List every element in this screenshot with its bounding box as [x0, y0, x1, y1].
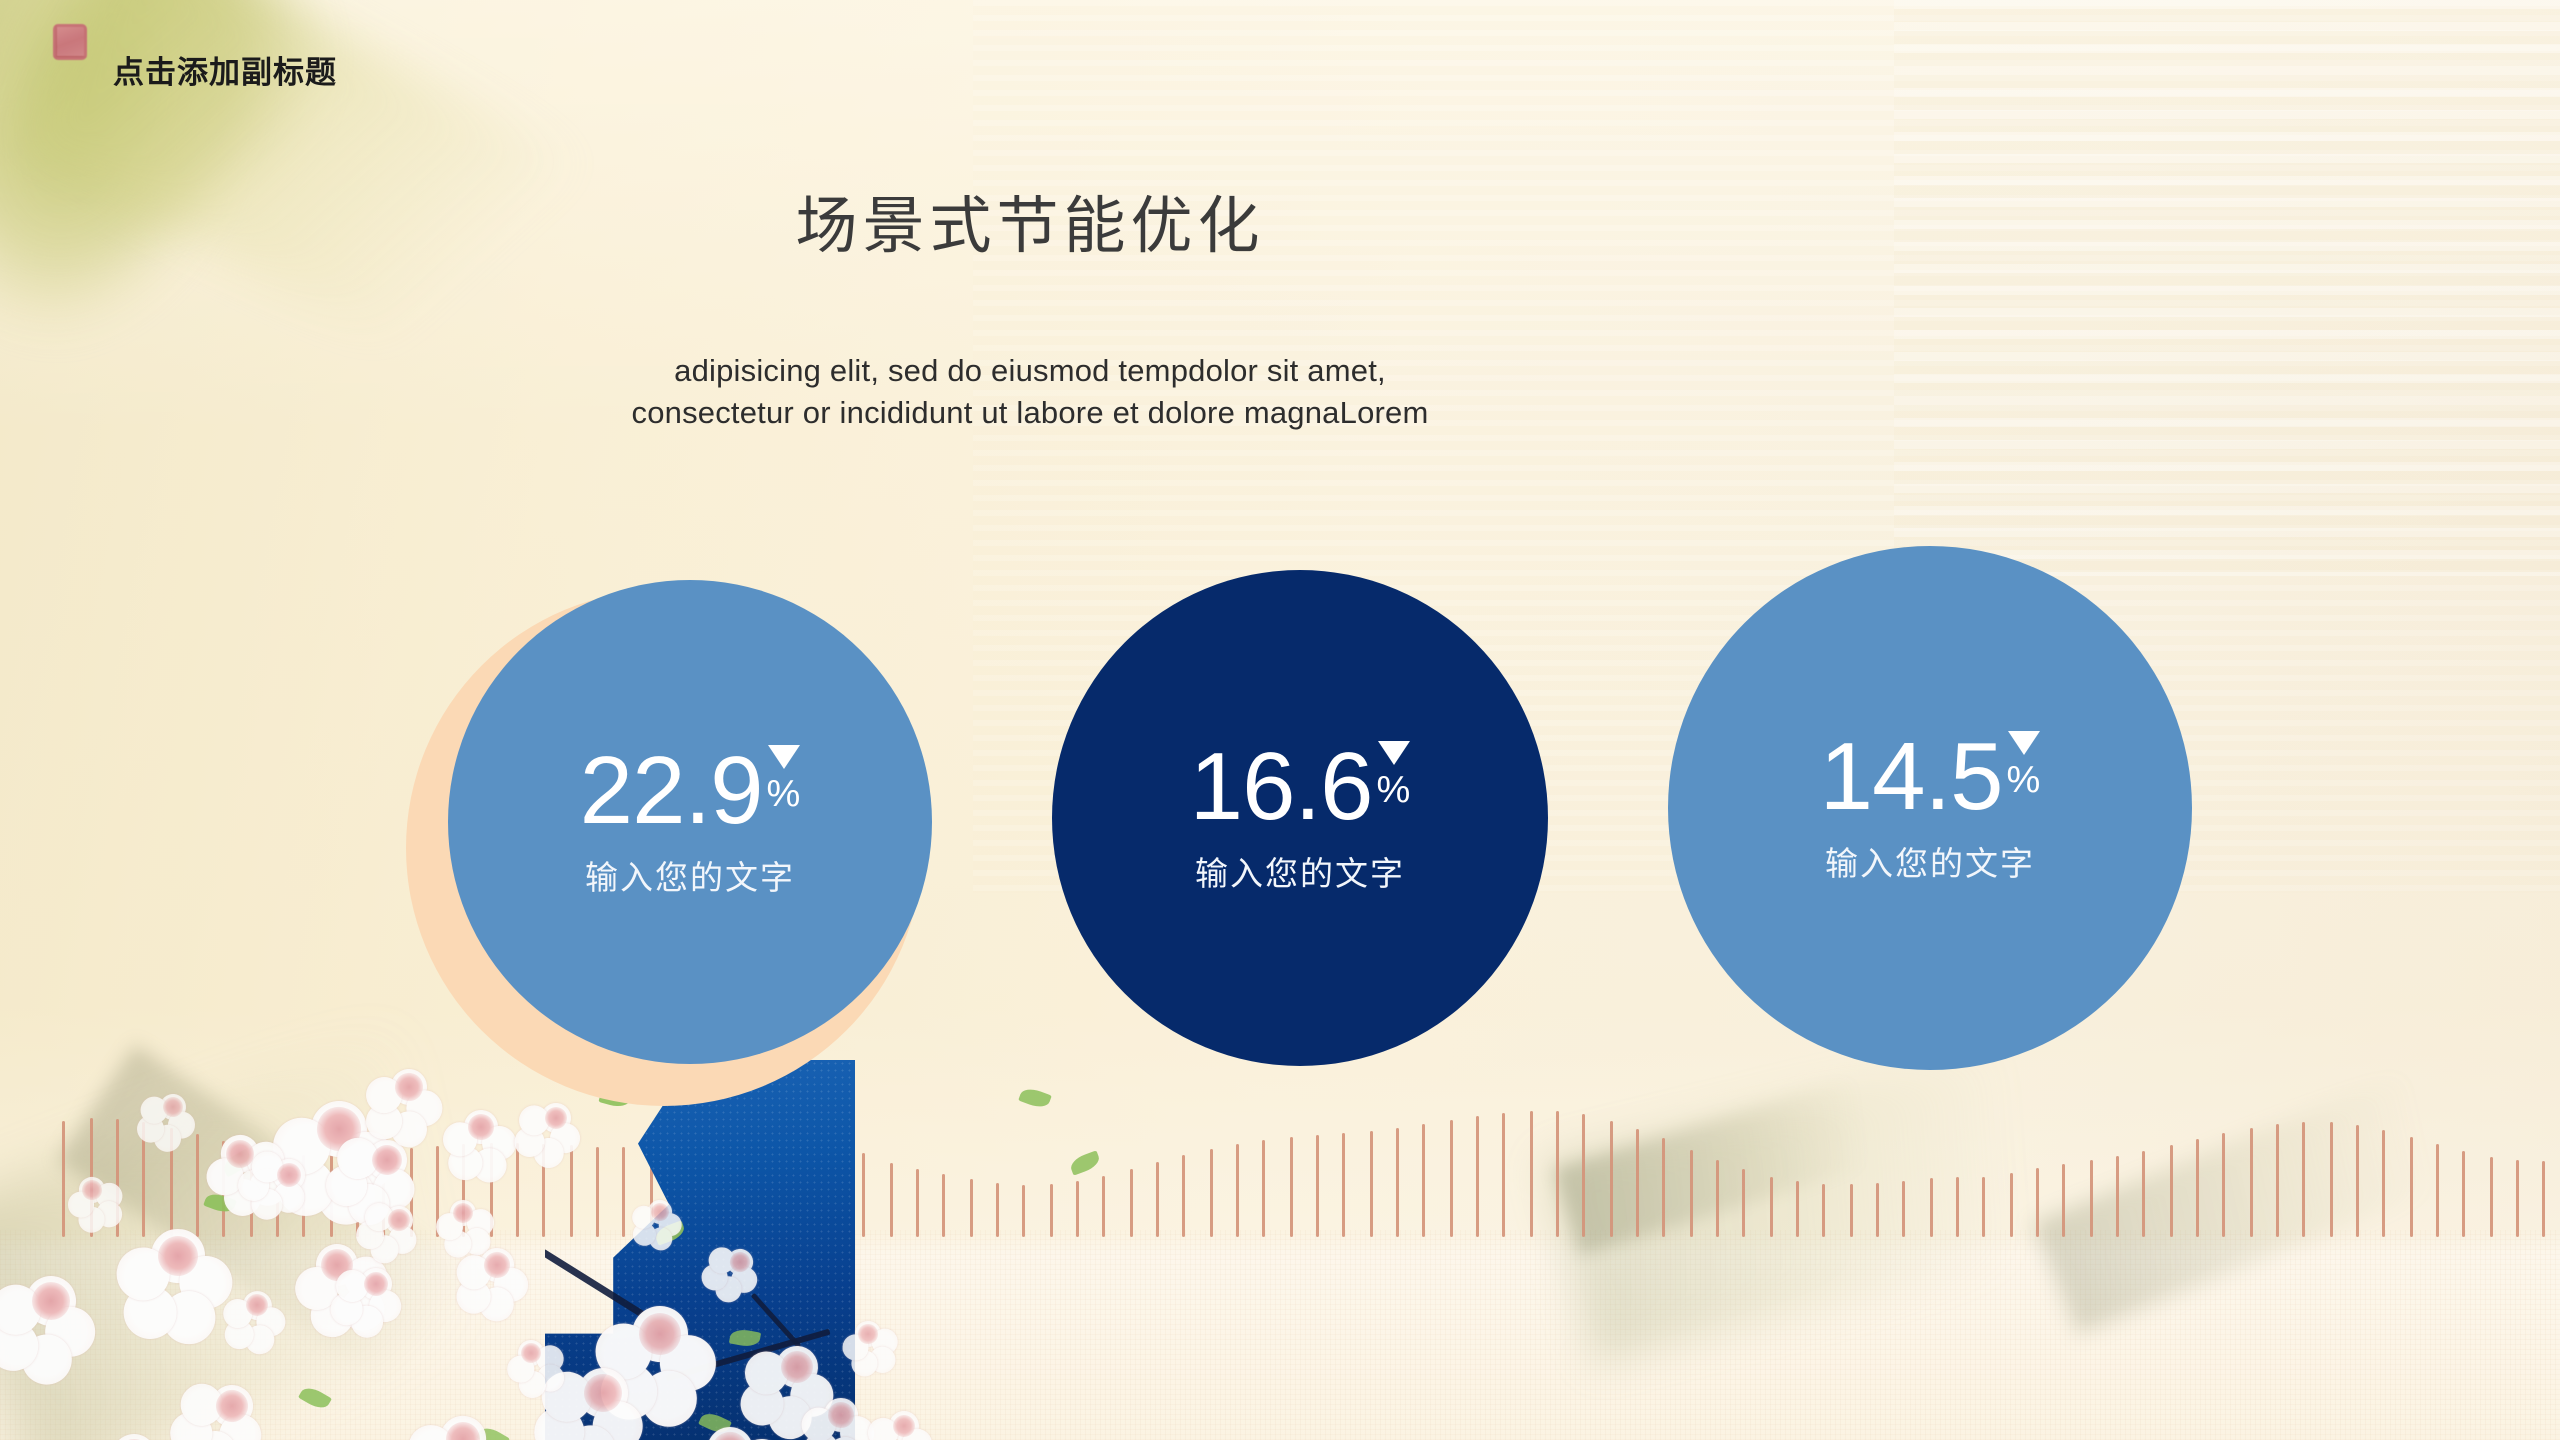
fence-tick [1050, 1184, 1053, 1237]
fence-tick [2036, 1168, 2039, 1237]
fence-tick [516, 1143, 519, 1237]
kpi-value-suffix: % [767, 745, 801, 813]
fence-tick [1956, 1177, 1959, 1237]
kpi-circle[interactable]: 22.9%输入您的文字 [448, 580, 932, 1064]
fence-tick [942, 1174, 945, 1237]
fence-tick [2116, 1156, 2119, 1237]
fence-tick [1610, 1121, 1613, 1237]
fence-tick [2382, 1130, 2385, 1237]
fence-tick [890, 1163, 893, 1237]
triangle-down-icon [1378, 741, 1410, 765]
kpi-percent-sign: % [2007, 761, 2041, 799]
fence-tick [970, 1179, 973, 1237]
fence-tick [1236, 1144, 1239, 1237]
fence-tick [1556, 1111, 1559, 1237]
fence-tick [1636, 1129, 1639, 1237]
fence-tick [2142, 1151, 2145, 1237]
cherry-blossom-icon [126, 1204, 230, 1308]
kpi-value: 14.5 [1820, 731, 2003, 822]
fence-tick [1876, 1183, 1879, 1237]
kpi-label[interactable]: 输入您的文字 [1825, 837, 2035, 885]
fence-tick [1396, 1128, 1399, 1237]
fence-tick [1530, 1111, 1533, 1237]
fence-tick [2356, 1125, 2359, 1237]
fence-tick [1982, 1177, 1985, 1237]
fence-tick [1422, 1124, 1425, 1237]
fence-tick [1690, 1150, 1693, 1237]
fence-tick [1582, 1114, 1585, 1237]
fence-tick [1850, 1184, 1853, 1237]
triangle-down-icon [2008, 731, 2040, 755]
fence-tick [1182, 1155, 1185, 1237]
fence-tick [1502, 1113, 1505, 1237]
fence-tick [1076, 1181, 1079, 1237]
seal-stamp-icon [53, 24, 87, 60]
kpi-value-row: 16.6% [1190, 741, 1411, 832]
fence-tick [1370, 1131, 1373, 1237]
kpi-value-row: 14.5% [1820, 731, 2041, 822]
fence-tick [1450, 1120, 1453, 1237]
slide-canvas: 点击添加副标题 场景式节能优化 adipisicing elit, sed do… [0, 0, 2560, 1440]
cherry-blossom-icon [807, 1381, 876, 1440]
fence-tick [2222, 1133, 2225, 1237]
fence-tick [1290, 1137, 1293, 1237]
fence-tick [2302, 1122, 2305, 1237]
kpi-label[interactable]: 输入您的文字 [1195, 847, 1405, 895]
fence-tick [2330, 1122, 2333, 1237]
fence-tick [996, 1183, 999, 1237]
fence-tick [1342, 1133, 1345, 1237]
fence-tick [1022, 1185, 1025, 1237]
kpi-percent-sign: % [767, 775, 801, 813]
kpi-value: 22.9 [580, 745, 763, 836]
fence-tick [2090, 1160, 2093, 1237]
fence-tick [2410, 1137, 2413, 1237]
fence-tick [1796, 1181, 1799, 1237]
fence-tick [1716, 1160, 1719, 1237]
fence-tick [916, 1169, 919, 1237]
fence-tick [1822, 1184, 1825, 1237]
fence-tick [1102, 1176, 1105, 1237]
fence-tick [2062, 1164, 2065, 1237]
kpi-circle[interactable]: 16.6%输入您的文字 [1052, 570, 1548, 1066]
fence-tick [2462, 1151, 2465, 1237]
fence-tick [2276, 1124, 2279, 1237]
fence-tick [1316, 1135, 1319, 1237]
fence-tick [2516, 1160, 2519, 1237]
fence-tick [2542, 1161, 2545, 1237]
fence-tick [1930, 1178, 1933, 1237]
kpi-value: 16.6 [1190, 741, 1373, 832]
fence-tick [2250, 1128, 2253, 1237]
fence-tick [2490, 1157, 2493, 1237]
fence-tick [1210, 1149, 1213, 1237]
fence-tick [1770, 1177, 1773, 1237]
lead-line-1: adipisicing elit, sed do eiusmod tempdol… [0, 350, 2310, 392]
fence-tick [2196, 1139, 2199, 1237]
fence-tick [1130, 1169, 1133, 1237]
lead-paragraph[interactable]: adipisicing elit, sed do eiusmod tempdol… [0, 350, 2310, 434]
fence-tick [862, 1153, 865, 1237]
cherry-blossom-icon [227, 1275, 288, 1336]
fence-tick [1156, 1162, 1159, 1237]
kpi-circle[interactable]: 14.5%输入您的文字 [1668, 546, 2192, 1070]
slide-subtitle[interactable]: 点击添加副标题 [113, 47, 337, 92]
kpi-percent-sign: % [1377, 771, 1411, 809]
lead-line-2: consectetur or incididunt ut labore et d… [0, 392, 2310, 434]
fence-tick [1742, 1169, 1745, 1237]
triangle-down-icon [768, 745, 800, 769]
kpi-value-suffix: % [2007, 731, 2041, 799]
fence-tick [1262, 1140, 1265, 1237]
fence-tick [2436, 1144, 2439, 1237]
fence-tick [1476, 1116, 1479, 1237]
fence-tick [1902, 1181, 1905, 1237]
fence-tick [1662, 1138, 1665, 1237]
fence-tick [2170, 1145, 2173, 1237]
cherry-blossom-icon [842, 1308, 894, 1360]
kpi-value-row: 22.9% [580, 745, 801, 836]
page-title[interactable]: 场景式节能优化 [0, 175, 2310, 265]
background-paper-stripes-secondary [1894, 0, 2560, 576]
kpi-value-suffix: % [1377, 741, 1411, 809]
kpi-label[interactable]: 输入您的文字 [585, 851, 795, 899]
fence-tick [2010, 1173, 2013, 1237]
cherry-blossom-icon [450, 1096, 513, 1159]
